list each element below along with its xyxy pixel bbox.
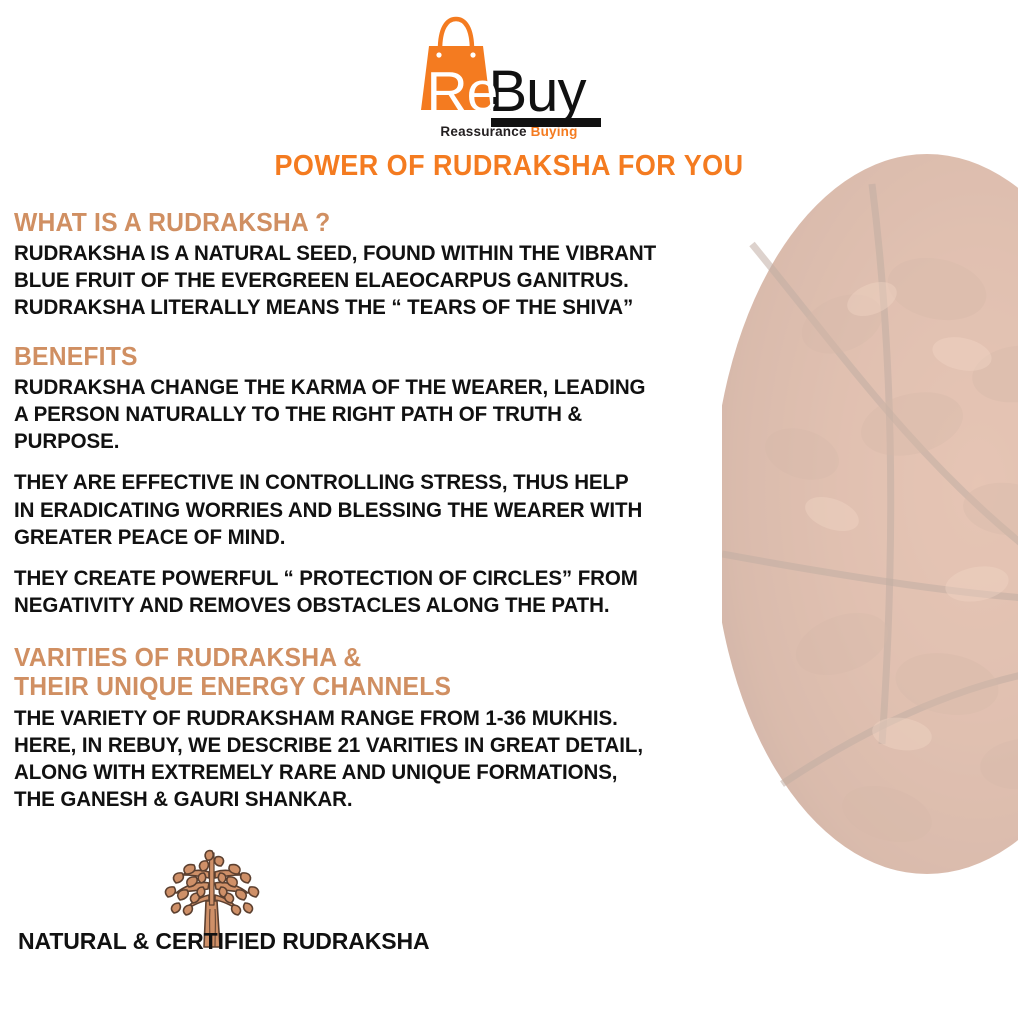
paragraph: RUDRAKSHA IS A NATURAL SEED, FOUND WITHI…: [14, 240, 804, 322]
logo-text-buy: Buy: [489, 63, 586, 121]
rudraksha-infographic-poster: Re Buy Reassurance Buying POWER OF RUDRA…: [0, 0, 1018, 1018]
body-line: HERE, IN REBUY, WE DESCRIBE 21 VARITIES …: [14, 732, 768, 759]
section-divider-space: [14, 621, 804, 643]
body-line: GREATER PEACE OF MIND.: [14, 524, 768, 551]
logo-underline-bar: [491, 118, 601, 127]
section-heading: BENEFITS: [14, 342, 765, 371]
body-line: THE GANESH & GAURI SHANKAR.: [14, 786, 768, 813]
footer-caption: NATURAL & CERTIFIED RUDRAKSHA: [18, 928, 430, 955]
body-line: THE VARIETY OF RUDRAKSHAM RANGE FROM 1-3…: [14, 705, 768, 732]
body-line: THEY ARE EFFECTIVE IN CONTROLLING STRESS…: [14, 469, 768, 496]
paragraph: THEY ARE EFFECTIVE IN CONTROLLING STRESS…: [14, 469, 804, 551]
section-heading: WHAT IS A RUDRAKSHA ?: [14, 208, 765, 237]
section-divider-space: [14, 324, 804, 342]
body-line: RUDRAKSHA LITERALLY MEANS THE “ TEARS OF…: [14, 294, 768, 321]
body-line: ALONG WITH EXTREMELY RARE AND UNIQUE FOR…: [14, 759, 768, 786]
body-line: THEY CREATE POWERFUL “ PROTECTION OF CIR…: [14, 565, 768, 592]
content-area: WHAT IS A RUDRAKSHA ? RUDRAKSHA IS A NAT…: [14, 208, 804, 815]
section-what-is-a-rudraksha: WHAT IS A RUDRAKSHA ? RUDRAKSHA IS A NAT…: [14, 208, 804, 322]
section-varities-of-rudraksha: VARITIES OF RUDRAKSHA & THEIR UNIQUE ENE…: [14, 643, 804, 813]
logo-text-re: Re: [427, 64, 498, 121]
body-line: RUDRAKSHA IS A NATURAL SEED, FOUND WITHI…: [14, 240, 768, 267]
section-heading-line-1: VARITIES OF RUDRAKSHA &: [14, 643, 765, 672]
body-line: NEGATIVITY AND REMOVES OBSTACLES ALONG T…: [14, 592, 768, 619]
rebuy-logo: Re Buy Reassurance Buying: [0, 14, 1018, 142]
body-line: PURPOSE.: [14, 428, 768, 455]
paragraph: THE VARIETY OF RUDRAKSHAM RANGE FROM 1-3…: [14, 705, 804, 814]
body-line: A PERSON NATURALLY TO THE RIGHT PATH OF …: [14, 401, 768, 428]
paragraph: RUDRAKSHA CHANGE THE KARMA OF THE WEARER…: [14, 374, 804, 456]
section-heading: VARITIES OF RUDRAKSHA & THEIR UNIQUE ENE…: [14, 643, 765, 701]
paragraph: THEY CREATE POWERFUL “ PROTECTION OF CIR…: [14, 565, 804, 619]
body-line: RUDRAKSHA CHANGE THE KARMA OF THE WEARER…: [14, 374, 768, 401]
page-title: POWER OF RUDRAKSHA FOR YOU: [36, 150, 983, 183]
body-line: IN ERADICATING WORRIES AND BLESSING THE …: [14, 497, 768, 524]
section-benefits: BENEFITS RUDRAKSHA CHANGE THE KARMA OF T…: [14, 342, 804, 620]
section-heading-line-2: THEIR UNIQUE ENERGY CHANNELS: [14, 672, 765, 701]
body-line: BLUE FRUIT OF THE EVERGREEN ELAEOCARPUS …: [14, 267, 768, 294]
